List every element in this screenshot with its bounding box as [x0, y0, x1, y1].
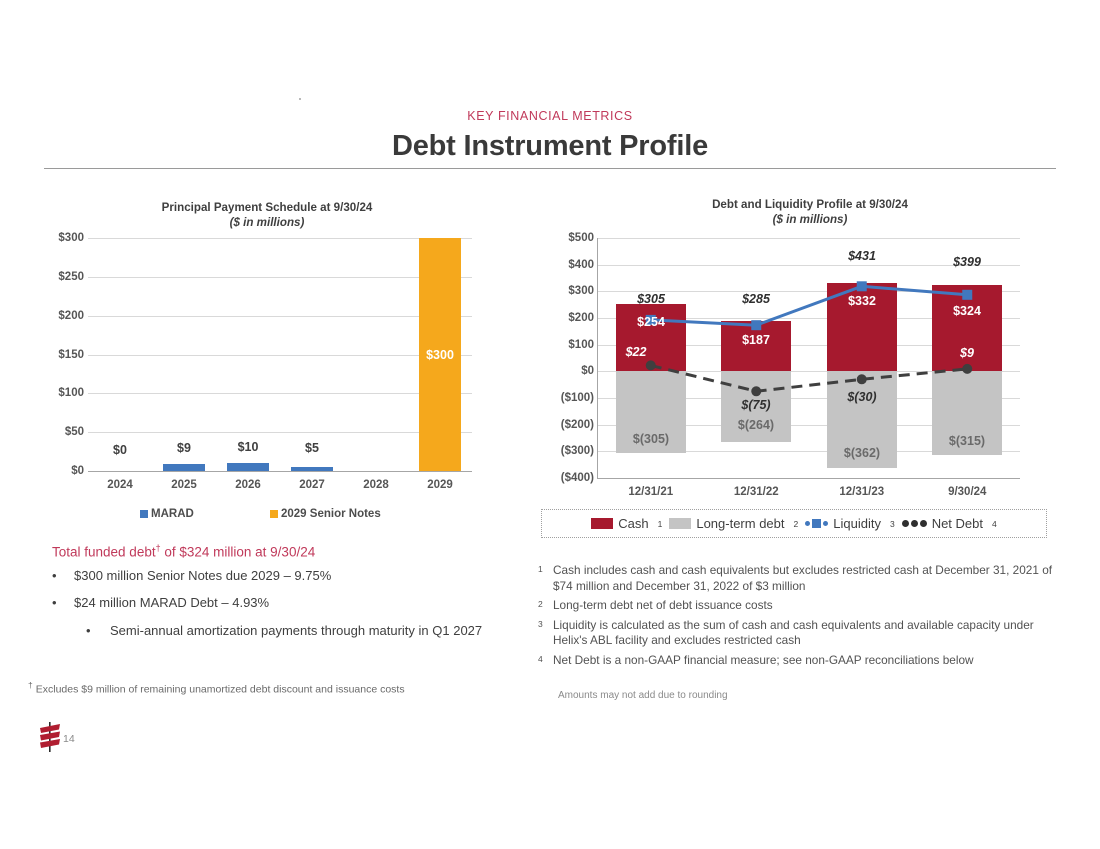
value-ltdebt-2021: $(305): [616, 432, 686, 446]
helix-logo: [38, 722, 62, 752]
xtick-2024: 2024: [99, 479, 141, 491]
gridline-100: [88, 393, 472, 394]
ytick-200: $200: [568, 312, 594, 324]
data-label-2029: $300: [419, 348, 461, 362]
bullet-text: $300 million Senior Notes due 2029 – 9.7…: [74, 568, 331, 584]
legend-item-cash: Cash 1: [591, 516, 662, 531]
square-icon: [270, 510, 278, 518]
net-debt-line: [651, 365, 968, 391]
bullet-text: Semi-annual amortization payments throug…: [110, 623, 482, 639]
bullet-marker: •: [86, 623, 110, 639]
legend-sup-liquidity: 3: [890, 519, 895, 529]
left-chart-legend: MARAD 2029 Senior Notes: [140, 508, 410, 520]
page-number: 14: [63, 733, 75, 745]
liquidity-marker-2024: [962, 290, 972, 300]
lead-rest: of $324 million at 9/30/24: [161, 545, 316, 560]
ytick-neg200: ($200): [561, 419, 594, 431]
bullet-text: $24 million MARAD Debt – 4.93%: [74, 595, 269, 611]
legend-label-liquidity: Liquidity: [833, 516, 881, 531]
xtick-2026: 2026: [227, 479, 269, 491]
legend-item-marad: MARAD: [140, 508, 270, 520]
liquidity-line: [651, 286, 968, 325]
xtick-12-31-21: 12/31/21: [598, 486, 704, 498]
ytick-neg300: ($300): [561, 445, 594, 457]
ytick-0: $0: [581, 365, 594, 377]
right-chart-title-main: Debt and Liquidity Profile at 9/30/24: [712, 198, 908, 211]
slide: KEY FINANCIAL METRICS Debt Instrument Pr…: [0, 0, 1100, 849]
title-divider: [44, 168, 1056, 169]
value-liquidity-2024: $399: [927, 255, 1007, 269]
data-label-2024: $0: [99, 443, 141, 457]
value-cash-2021: $254: [616, 315, 686, 329]
line-dots-icon: [902, 520, 927, 527]
gridline-300: [88, 238, 472, 239]
legend-sup-net-debt: 4: [992, 519, 997, 529]
ytick-200: $200: [58, 310, 84, 322]
legend-item-long-term-debt: Long-term debt 2: [669, 516, 798, 531]
left-chart-title: Principal Payment Schedule at 9/30/24 ($…: [44, 200, 490, 230]
line-square-icon: [805, 519, 828, 528]
total-funded-debt-lead: Total funded debt† of $324 million at 9/…: [52, 543, 315, 560]
ytick-500: $500: [568, 232, 594, 244]
value-netdebt-2021: $22: [606, 345, 666, 359]
rect-icon: [591, 518, 613, 529]
value-cash-2023: $332: [827, 294, 897, 308]
right-chart-subtitle: ($ in millions): [560, 212, 1060, 227]
square-icon: [140, 510, 148, 518]
data-label-2025: $9: [163, 441, 205, 455]
value-ltdebt-2024: $(315): [932, 434, 1002, 448]
ytick-neg100: ($100): [561, 392, 594, 404]
legend-label-marad: MARAD: [151, 508, 194, 520]
legend-sup-cash: 1: [658, 519, 663, 529]
bullet-list: • $300 million Senior Notes due 2029 – 9…: [52, 568, 512, 650]
legend-sup-long-term-debt: 2: [794, 519, 799, 529]
footnote-number: 1: [538, 563, 553, 594]
data-label-2027: $5: [291, 441, 333, 455]
footnote-number: 2: [538, 598, 553, 614]
ytick-0: $0: [71, 465, 84, 477]
value-liquidity-2023: $431: [822, 249, 902, 263]
value-netdebt-2022: $(75): [721, 398, 791, 412]
legend-label-senior-notes: 2029 Senior Notes: [281, 508, 381, 520]
footnote-text: Long-term debt net of debt issuance cost…: [553, 598, 773, 614]
lead-text: Total funded debt: [52, 545, 156, 560]
value-liquidity-2022: $285: [716, 292, 796, 306]
liquidity-marker-2022: [751, 320, 761, 330]
net-debt-marker-2022: [751, 386, 761, 396]
footnote-item: 2 Long-term debt net of debt issuance co…: [538, 598, 1066, 614]
footnote-number: 3: [538, 618, 553, 649]
ytick-250: $250: [58, 271, 84, 283]
value-cash-2024: $324: [932, 304, 1002, 318]
footnote-text: Cash includes cash and cash equivalents …: [553, 563, 1066, 594]
footnote-number: 4: [538, 653, 553, 669]
legend-item-senior-notes: 2029 Senior Notes: [270, 508, 381, 520]
footnote-item: 3 Liquidity is calculated as the sum of …: [538, 618, 1066, 649]
ytick-100: $100: [568, 339, 594, 351]
bar-marad-2026: [227, 463, 269, 471]
gridline-50: [88, 432, 472, 433]
ytick-50: $50: [65, 426, 84, 438]
data-label-2026: $10: [227, 440, 269, 454]
legend-label-net-debt: Net Debt: [932, 516, 983, 531]
ytick-300: $300: [568, 285, 594, 297]
dagger-footnote: †Excludes $9 million of remaining unamor…: [28, 680, 498, 696]
footnote-item: 4 Net Debt is a non-GAAP financial measu…: [538, 653, 1066, 669]
rounding-note: Amounts may not add due to rounding: [558, 690, 728, 701]
liquidity-marker-2023: [857, 281, 867, 291]
gridline-150: [88, 355, 472, 356]
xtick-2027: 2027: [291, 479, 333, 491]
net-debt-marker-2024: [962, 364, 972, 374]
dagger-footnote-text: Excludes $9 million of remaining unamort…: [36, 684, 405, 696]
list-item: • $24 million MARAD Debt – 4.93%: [52, 595, 512, 611]
bar-marad-2027: [291, 467, 333, 471]
ytick-100: $100: [58, 387, 84, 399]
value-netdebt-2023: $(30): [827, 390, 897, 404]
xtick-9-30-24: 9/30/24: [915, 486, 1021, 498]
value-cash-2022: $187: [721, 333, 791, 347]
xtick-2028: 2028: [355, 479, 397, 491]
rect-icon: [669, 518, 691, 529]
legend-label-cash: Cash: [618, 516, 648, 531]
xtick-12-31-22: 12/31/22: [704, 486, 810, 498]
value-ltdebt-2023: $(362): [827, 446, 897, 460]
right-chart-title: Debt and Liquidity Profile at 9/30/24 ($…: [560, 197, 1060, 227]
principal-payment-schedule-chart: $300 $250 $200 $150 $100 $50 $0 $0 $9 $1…: [88, 238, 472, 471]
left-chart-subtitle: ($ in millions): [44, 215, 490, 230]
legend-item-liquidity: Liquidity 3: [805, 516, 894, 531]
bullet-marker: •: [52, 568, 74, 584]
axis-x: [88, 471, 472, 472]
net-debt-marker-2023: [857, 374, 867, 384]
gridline-200: [88, 316, 472, 317]
ytick-neg400: ($400): [561, 472, 594, 484]
xtick-2025: 2025: [163, 479, 205, 491]
page-title: Debt Instrument Profile: [0, 130, 1100, 163]
debt-liquidity-profile-chart: $500 $400 $300 $200 $100 $0 ($100) ($200…: [598, 238, 1020, 478]
value-ltdebt-2022: $(264): [721, 418, 791, 432]
footnote-text: Liquidity is calculated as the sum of ca…: [553, 618, 1066, 649]
value-netdebt-2024: $9: [947, 346, 987, 360]
legend-label-long-term-debt: Long-term debt: [696, 516, 784, 531]
bar-marad-2025: [163, 464, 205, 471]
footnote-text: Net Debt is a non-GAAP financial measure…: [553, 653, 974, 669]
gridline-250: [88, 277, 472, 278]
net-debt-marker-2021: [646, 360, 656, 370]
legend-item-net-debt: Net Debt 4: [902, 516, 997, 531]
bullet-marker: •: [52, 595, 74, 611]
list-item: • Semi-annual amortization payments thro…: [52, 623, 512, 639]
footnote-item: 1 Cash includes cash and cash equivalent…: [538, 563, 1066, 594]
footnote-list: 1 Cash includes cash and cash equivalent…: [538, 563, 1066, 672]
slide-eyebrow: KEY FINANCIAL METRICS: [0, 109, 1100, 123]
left-chart-title-main: Principal Payment Schedule at 9/30/24: [162, 201, 373, 214]
stray-mark: [299, 98, 301, 100]
xtick-12-31-23: 12/31/23: [809, 486, 915, 498]
ytick-400: $400: [568, 259, 594, 271]
dagger-symbol: †: [28, 680, 33, 690]
xtick-2029: 2029: [419, 479, 461, 491]
ytick-300: $300: [58, 232, 84, 244]
value-liquidity-2021: $305: [611, 292, 691, 306]
right-chart-legend: Cash 1 Long-term debt 2 Liquidity 3 Net …: [541, 509, 1047, 538]
list-item: • $300 million Senior Notes due 2029 – 9…: [52, 568, 512, 584]
ytick-150: $150: [58, 349, 84, 361]
